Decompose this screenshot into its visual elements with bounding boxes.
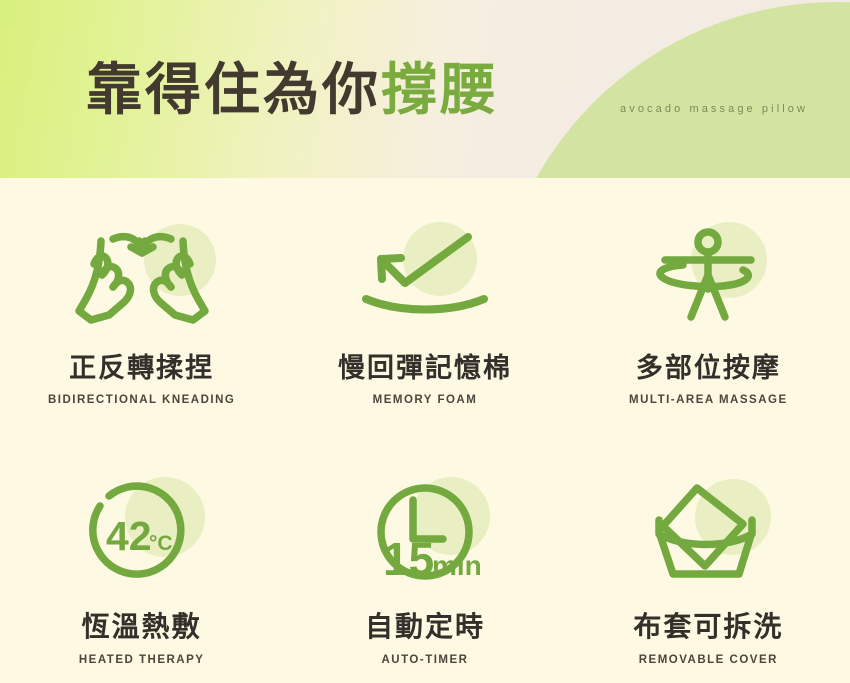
- page-title-dark-part: 靠得住為你: [86, 58, 381, 121]
- feature-label-en: AUTO-TIMER: [382, 654, 469, 666]
- temperature-unit: °C: [149, 532, 173, 555]
- feature-item-heated-therapy: 42 °C 恆溫熱敷 HEATED THERAPY: [0, 431, 283, 683]
- icon-container: 42 °C: [67, 481, 217, 591]
- feature-label-cn: 多部位按摩: [636, 346, 781, 385]
- page-title-accent-part: 撐腰: [381, 58, 499, 121]
- feature-label-cn: 布套可拆洗: [633, 605, 783, 645]
- icon-container: [633, 222, 783, 332]
- feature-label-en: MULTI-AREA MASSAGE: [629, 394, 788, 406]
- two-hands-rotating-arrows-icon: [69, 225, 215, 329]
- icon-container: 15 min: [350, 481, 500, 591]
- icon-container: [67, 222, 217, 332]
- wash-basin-fabric-icon: [635, 482, 781, 590]
- icon-container: [633, 481, 783, 591]
- temperature-ring-icon: 42 °C: [69, 482, 215, 590]
- feature-label-en: BIDIRECTIONAL KNEADING: [48, 394, 235, 406]
- feature-item-auto-timer: 15 min 自動定時 AUTO-TIMER: [283, 431, 566, 683]
- feature-label-cn: 慢回彈記憶棉: [338, 346, 512, 385]
- feature-label-en: MEMORY FOAM: [373, 394, 478, 406]
- product-feature-banner: 靠得住為你撐腰 avocado massage pillow: [0, 0, 850, 683]
- feature-label-cn: 恆溫熱敷: [82, 605, 202, 645]
- feature-item-memory-foam: 慢回彈記憶棉 MEMORY FOAM: [283, 178, 566, 431]
- feature-label-en: REMOVABLE COVER: [639, 654, 778, 666]
- feature-label-cn: 正反轉揉捏: [69, 346, 214, 385]
- feature-item-bidirectional-kneading: 正反轉揉捏 BIDIRECTIONAL KNEADING: [0, 178, 283, 431]
- feature-grid: 正反轉揉捏 BIDIRECTIONAL KNEADING 慢回彈記憶棉 MEMO…: [0, 178, 850, 683]
- timer-value: 15: [383, 533, 434, 585]
- clock-timer-icon: 15 min: [352, 482, 498, 590]
- feature-item-multi-area-massage: 多部位按摩 MULTI-AREA MASSAGE: [567, 178, 850, 431]
- timer-unit: min: [432, 550, 482, 581]
- icon-container: [350, 222, 500, 332]
- feature-item-removable-cover: 布套可拆洗 REMOVABLE COVER: [567, 431, 850, 683]
- header-decorative-circle: [492, 2, 850, 178]
- rebound-arrow-over-curve-icon: [352, 225, 498, 329]
- person-outstretched-arms-icon: [635, 225, 781, 329]
- feature-label-en: HEATED THERAPY: [79, 654, 205, 666]
- page-title: 靠得住為你撐腰: [86, 58, 499, 122]
- page-subtitle: avocado massage pillow: [620, 103, 808, 115]
- temperature-value: 42: [106, 513, 152, 559]
- feature-label-cn: 自動定時: [365, 605, 485, 645]
- banner-header: 靠得住為你撐腰 avocado massage pillow: [0, 0, 850, 178]
